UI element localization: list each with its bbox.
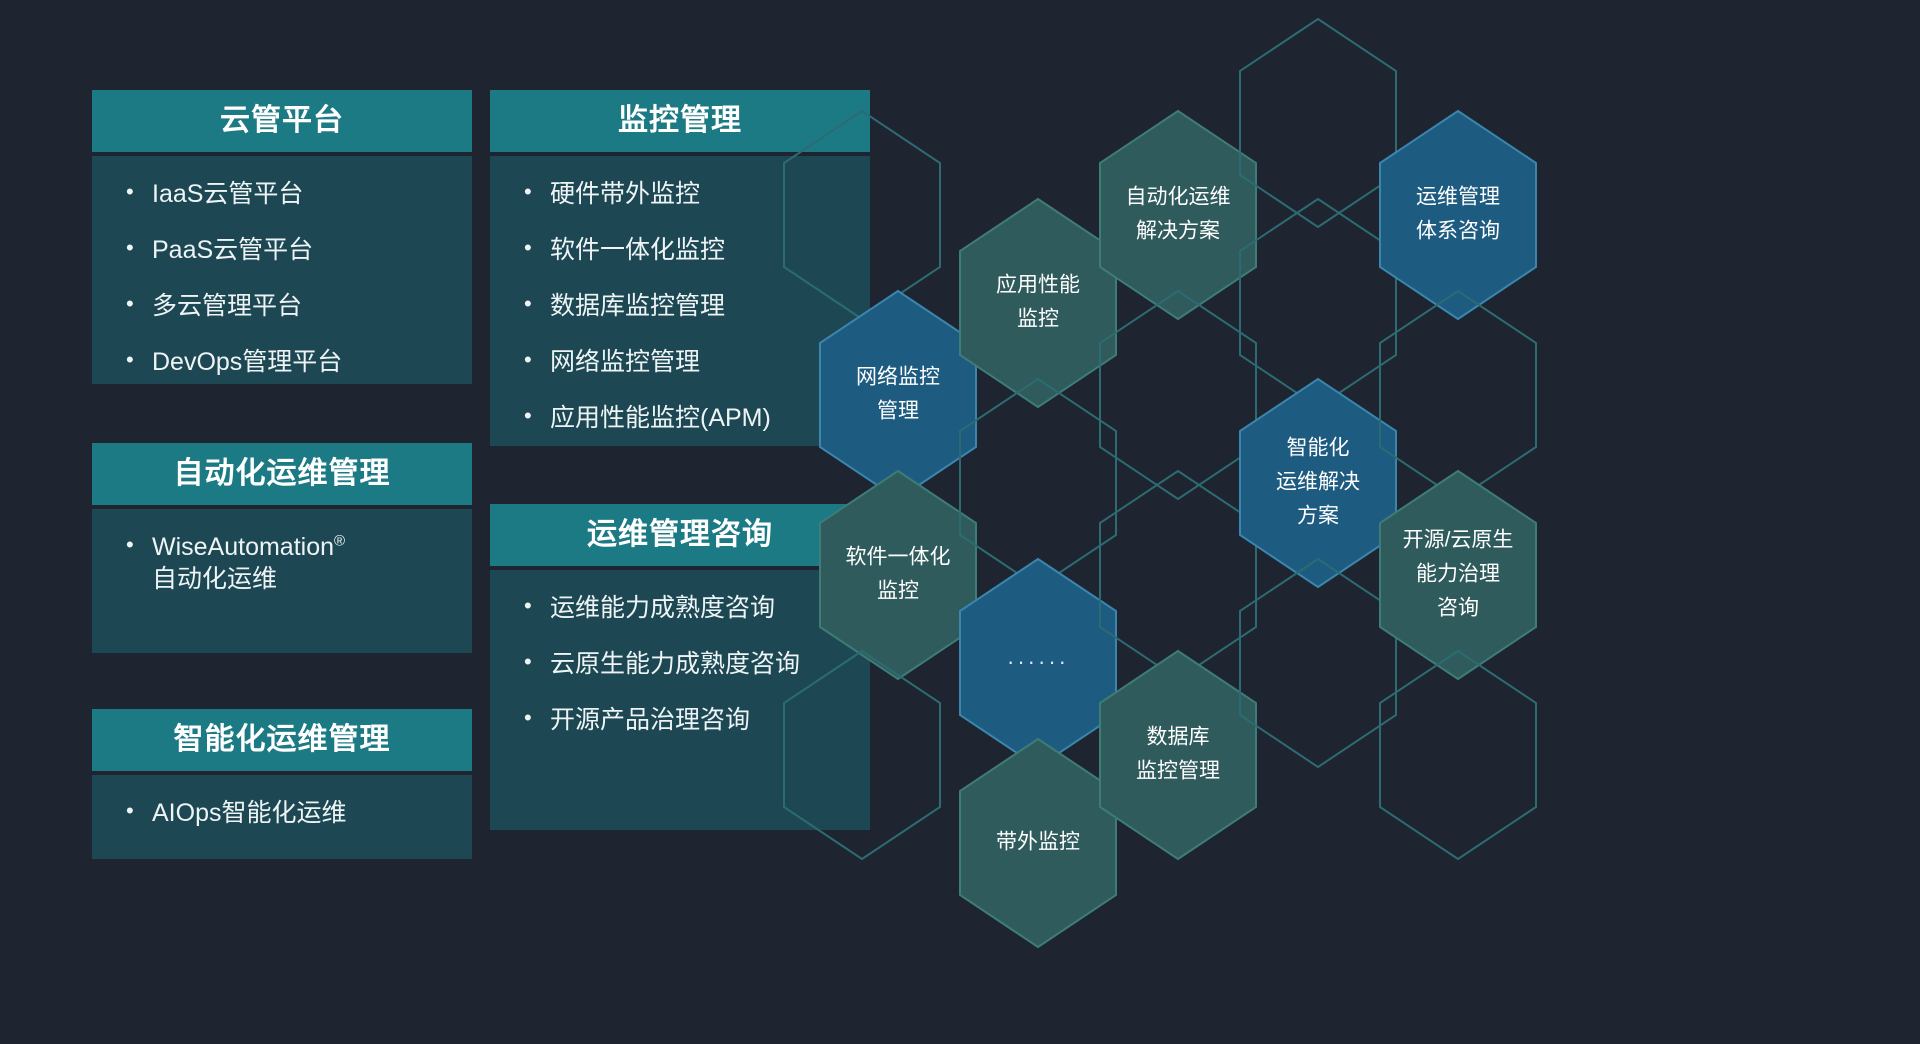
hex-database-monitoring[interactable]: 数据库监控管理 bbox=[1100, 651, 1256, 859]
hex-empty-9 bbox=[1380, 291, 1536, 499]
hex-empty-2-shape bbox=[784, 651, 940, 859]
hex-opensource-consulting-label-line: 能力治理 bbox=[1416, 563, 1500, 586]
hex-aiops-solution-label-line: 智能化 bbox=[1287, 437, 1350, 460]
hex-aiops-solution-label-line: 方案 bbox=[1297, 505, 1339, 528]
hex-network-monitoring-label-line: 网络监控 bbox=[856, 366, 940, 389]
hex-out-of-band[interactable]: 带外监控 bbox=[960, 739, 1116, 947]
hex-empty-7 bbox=[1240, 199, 1396, 407]
hex-network-monitoring-label-line: 管理 bbox=[877, 400, 919, 423]
hex-automation-solution-label-line: 自动化运维 bbox=[1126, 186, 1231, 209]
card-list-automation-ops: WiseAutomation®自动化运维 bbox=[126, 531, 446, 595]
list-item: PaaS云管平台 bbox=[126, 234, 446, 266]
hex-database-monitoring-shape bbox=[1100, 651, 1256, 859]
hex-software-monitoring-label-line: 监控 bbox=[877, 580, 919, 603]
hex-empty-5-shape bbox=[1100, 471, 1256, 679]
hex-automation-solution-label-line: 解决方案 bbox=[1136, 220, 1220, 243]
hex-empty-4-shape bbox=[1100, 291, 1256, 499]
hex-ops-consulting-label-line: 运维管理 bbox=[1416, 186, 1500, 209]
card-intelligent-ops[interactable]: 智能化运维管理 AIOps智能化运维 bbox=[92, 709, 472, 859]
card-list-cloud-platform: IaaS云管平台 PaaS云管平台 多云管理平台 DevOps管理平台 bbox=[126, 178, 446, 378]
hex-empty-8 bbox=[1240, 559, 1396, 767]
hex-empty-3-shape bbox=[960, 379, 1116, 587]
list-item-text: WiseAutomation®自动化运维 bbox=[152, 533, 345, 593]
hex-app-performance-label-line: 应用性能 bbox=[996, 274, 1080, 297]
hex-ellipsis-dots: ······ bbox=[1007, 649, 1069, 674]
hex-automation-solution-shape bbox=[1100, 111, 1256, 319]
registered-trademark-icon: ® bbox=[334, 533, 345, 550]
hex-database-monitoring-label-line: 数据库 bbox=[1147, 726, 1210, 749]
hex-ops-consulting[interactable]: 运维管理体系咨询 bbox=[1380, 111, 1536, 319]
hex-opensource-consulting-label-line: 咨询 bbox=[1437, 597, 1479, 620]
card-list-intelligent-ops: AIOps智能化运维 bbox=[126, 797, 446, 829]
hex-app-performance[interactable]: 应用性能监控 bbox=[960, 199, 1116, 407]
hexagon-diagram: 网络监控管理软件一体化监控应用性能监控······带外监控自动化运维解决方案数据… bbox=[760, 0, 1920, 1044]
hex-opensource-consulting-label-line: 开源/云原生 bbox=[1403, 529, 1514, 552]
card-title-cloud-platform: 云管平台 bbox=[92, 90, 472, 152]
hex-out-of-band-label-line: 带外监控 bbox=[996, 831, 1080, 854]
list-item: WiseAutomation®自动化运维 bbox=[126, 531, 446, 595]
card-body-automation-ops: WiseAutomation®自动化运维 bbox=[92, 509, 472, 653]
hex-empty-9-shape bbox=[1380, 291, 1536, 499]
hex-ellipsis[interactable]: ······ bbox=[960, 559, 1116, 767]
hex-empty-4 bbox=[1100, 291, 1256, 499]
hex-empty-1-shape bbox=[784, 111, 940, 319]
list-item: AIOps智能化运维 bbox=[126, 797, 446, 829]
hex-empty-3 bbox=[960, 379, 1116, 587]
hex-aiops-solution[interactable]: 智能化运维解决方案 bbox=[1240, 379, 1396, 587]
hex-empty-10 bbox=[1380, 651, 1536, 859]
list-item: 多云管理平台 bbox=[126, 290, 446, 322]
hex-network-monitoring[interactable]: 网络监控管理 bbox=[820, 291, 976, 499]
list-item: IaaS云管平台 bbox=[126, 178, 446, 210]
card-cloud-platform[interactable]: 云管平台 IaaS云管平台 PaaS云管平台 多云管理平台 DevOps管理平台 bbox=[92, 90, 472, 384]
card-automation-ops[interactable]: 自动化运维管理 WiseAutomation®自动化运维 bbox=[92, 443, 472, 653]
hex-empty-1 bbox=[784, 111, 940, 319]
hexagon-diagram-svg: 网络监控管理软件一体化监控应用性能监控······带外监控自动化运维解决方案数据… bbox=[760, 0, 1920, 1044]
hex-automation-solution[interactable]: 自动化运维解决方案 bbox=[1100, 111, 1256, 319]
hex-software-monitoring-shape bbox=[820, 471, 976, 679]
hex-network-monitoring-shape bbox=[820, 291, 976, 499]
hex-ops-consulting-label-line: 体系咨询 bbox=[1416, 220, 1500, 243]
hex-empty-5 bbox=[1100, 471, 1256, 679]
hex-empty-6 bbox=[1240, 19, 1396, 227]
hex-empty-7-shape bbox=[1240, 199, 1396, 407]
hex-ops-consulting-shape bbox=[1380, 111, 1536, 319]
hex-empty-2 bbox=[784, 651, 940, 859]
hex-software-monitoring-label-line: 软件一体化 bbox=[846, 546, 951, 569]
hex-aiops-solution-label-line: 运维解决 bbox=[1276, 471, 1360, 494]
hex-opensource-consulting[interactable]: 开源/云原生能力治理咨询 bbox=[1380, 471, 1536, 679]
hex-app-performance-label-line: 监控 bbox=[1017, 308, 1059, 331]
card-column-left: 云管平台 IaaS云管平台 PaaS云管平台 多云管理平台 DevOps管理平台… bbox=[92, 90, 472, 859]
slide-canvas: 云管平台 IaaS云管平台 PaaS云管平台 多云管理平台 DevOps管理平台… bbox=[0, 0, 1920, 1044]
hex-app-performance-shape bbox=[960, 199, 1116, 407]
list-item: DevOps管理平台 bbox=[126, 346, 446, 378]
hex-empty-6-shape bbox=[1240, 19, 1396, 227]
hex-empty-8-shape bbox=[1240, 559, 1396, 767]
hex-software-monitoring[interactable]: 软件一体化监控 bbox=[820, 471, 976, 679]
card-title-automation-ops: 自动化运维管理 bbox=[92, 443, 472, 505]
card-body-intelligent-ops: AIOps智能化运维 bbox=[92, 775, 472, 859]
hex-empty-10-shape bbox=[1380, 651, 1536, 859]
hex-database-monitoring-label-line: 监控管理 bbox=[1136, 760, 1220, 783]
card-title-intelligent-ops: 智能化运维管理 bbox=[92, 709, 472, 771]
card-body-cloud-platform: IaaS云管平台 PaaS云管平台 多云管理平台 DevOps管理平台 bbox=[92, 156, 472, 384]
